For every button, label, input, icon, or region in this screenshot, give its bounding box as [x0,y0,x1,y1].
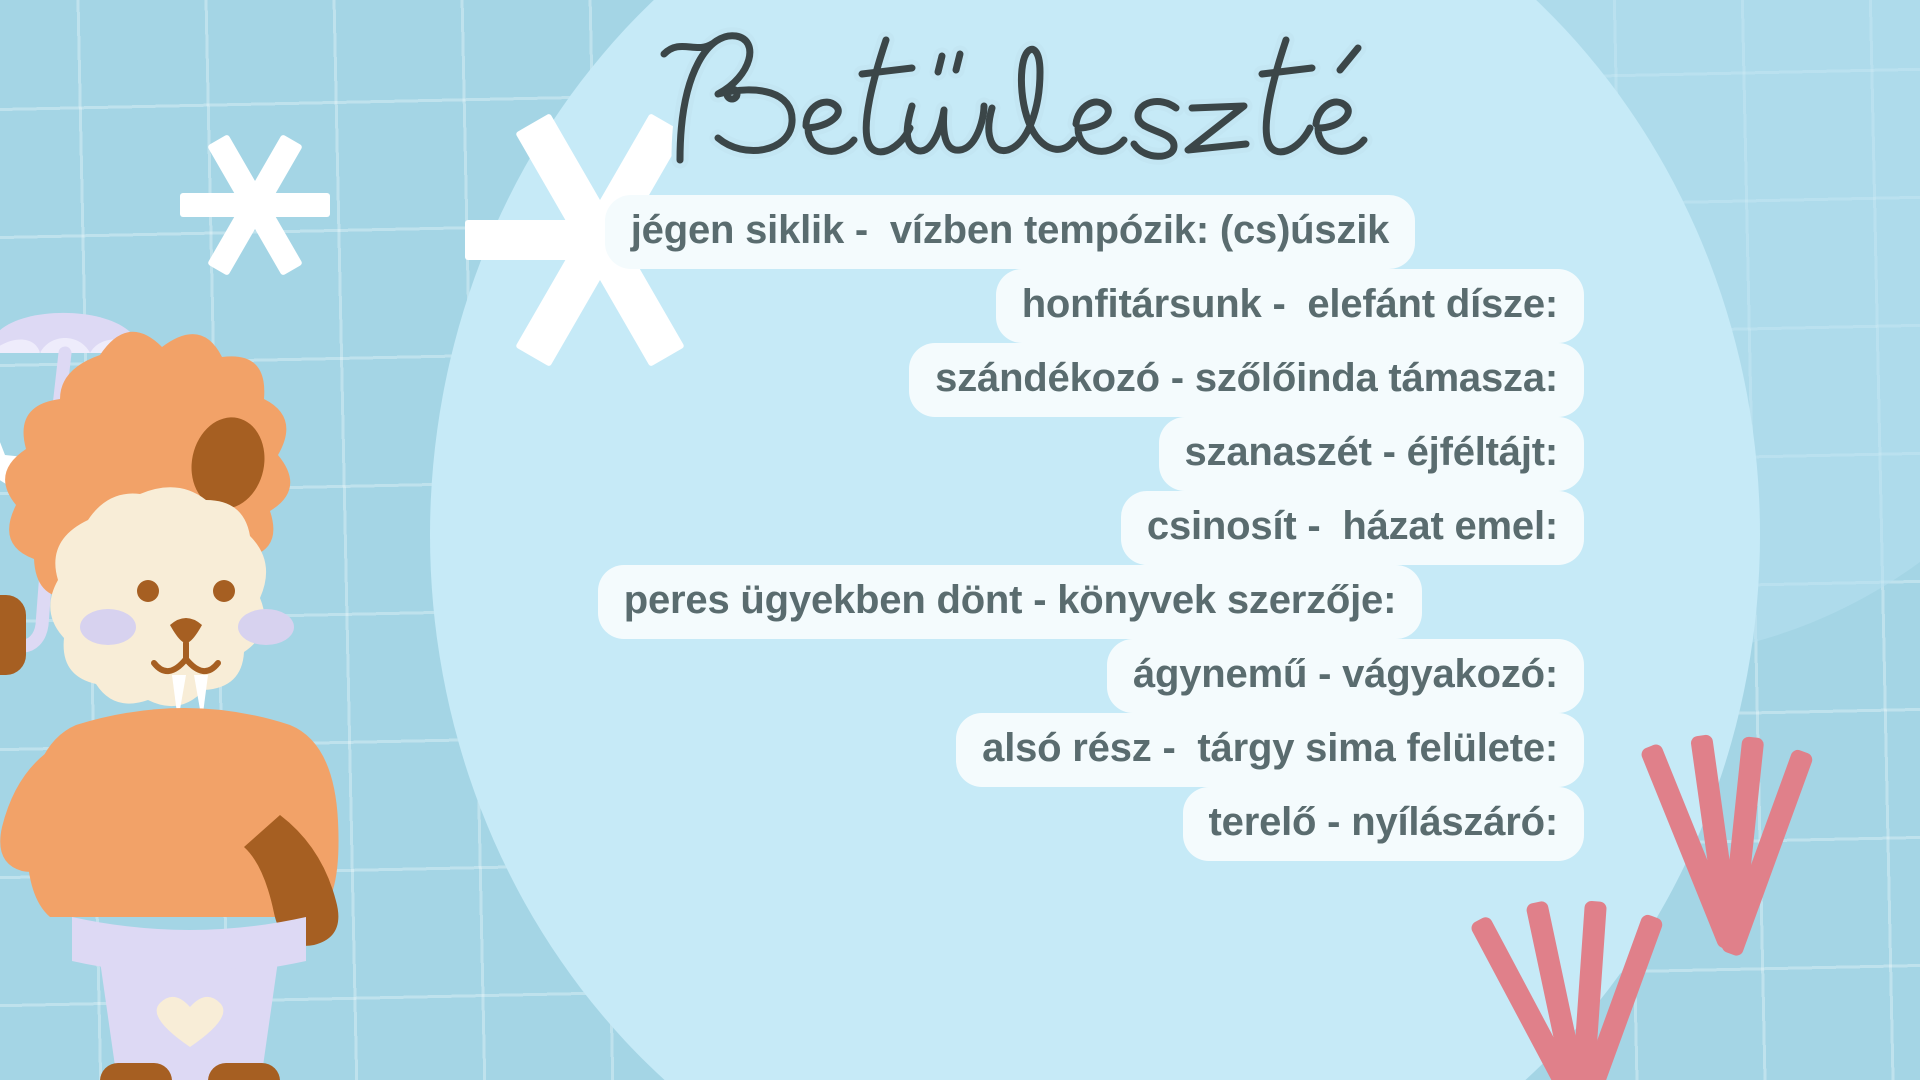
list-item: ágynemű - vágyakozó: [1107,639,1584,713]
list-item: terelő - nyílászáró: [1183,787,1584,861]
word-list: jégen siklik - vízben tempózik: (cs)úszi… [420,195,1600,861]
fox-foot-right [208,1063,280,1080]
coral-plant-bottom [1570,900,1870,1080]
list-item: honfitársunk - elefánt dísze: [996,269,1584,343]
list-item: csinosít - házat emel: [1121,491,1584,565]
list-item: szanaszét - éjféltájt: [1159,417,1585,491]
fox-eye-right [213,580,235,602]
fox-character-illustration [0,295,400,1080]
poster-canvas: Betűvesztés jégen siklik - vízben tempóz… [0,0,1920,1080]
fox-eye-left [137,580,159,602]
fox-cheek-left [80,609,136,645]
list-item: szándékozó - szőlőinda támasza: [909,343,1584,417]
list-item: alsó rész - tárgy sima felülete: [956,713,1584,787]
fox-foot-left [100,1063,172,1080]
snowflake-icon-small [180,130,330,280]
list-item: jégen siklik - vízben tempózik: (cs)úszi… [605,195,1415,269]
page-title: Betűvesztés [640,10,1540,180]
list-item: peres ügyekben dönt - könyvek szerzője: [598,565,1422,639]
fox-body [0,708,338,1080]
fox-cheek-right [238,609,294,645]
